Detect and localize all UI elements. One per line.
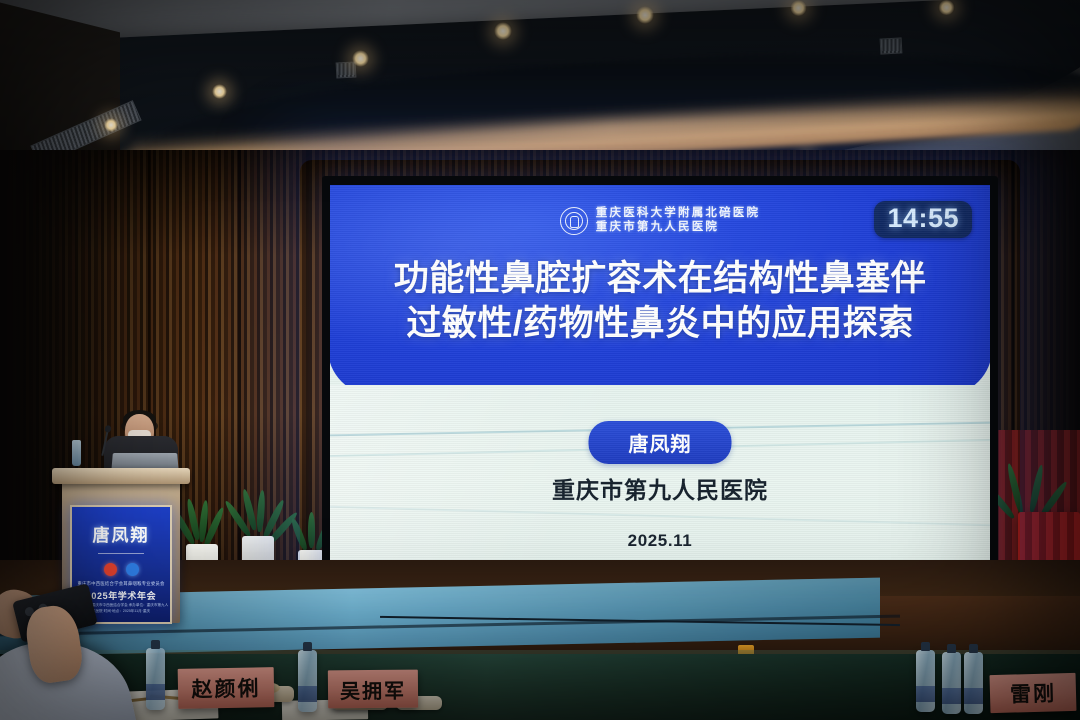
ceiling-light	[494, 22, 512, 40]
ceiling-light	[212, 84, 227, 99]
speaker-name-pill: 唐凤翔	[589, 421, 732, 464]
presentation-screen: 重庆医科大学附属北碚医院 重庆市第九人民医院 14:55 功能性鼻腔扩容术在结构…	[330, 185, 990, 593]
wall-seam	[238, 150, 241, 630]
badge-icon-blue	[126, 563, 139, 576]
slide-title: 功能性鼻腔扩容术在结构性鼻塞伴 过敏性/药物性鼻炎中的应用探索	[330, 257, 990, 347]
name-card-label: 赵颜俐	[191, 672, 261, 703]
ceiling-light	[104, 118, 118, 132]
name-card: 雷刚	[990, 673, 1077, 713]
water-bottle	[916, 650, 935, 712]
podium-top-surface	[52, 468, 190, 484]
badge-icon-red	[104, 563, 117, 576]
presentation-timer: 14:55	[874, 201, 972, 238]
speaker-affiliation: 重庆市第九人民医院	[330, 471, 990, 505]
podium-sign-divider	[98, 553, 144, 554]
ceiling-light	[790, 0, 807, 16]
name-card: 吴拥军	[328, 670, 418, 709]
water-bottle	[964, 652, 983, 714]
water-bottle	[942, 652, 961, 714]
slide-title-line2: 过敏性/药物性鼻炎中的应用探索	[330, 302, 990, 347]
slide-title-line1: 功能性鼻腔扩容术在结构性鼻塞伴	[330, 257, 990, 302]
water-bottle	[146, 648, 165, 710]
conference-photo: 重庆医科大学附属北碚医院 重庆市第九人民医院 14:55 功能性鼻腔扩容术在结构…	[0, 0, 1080, 720]
podium-sign-name: 唐凤翔	[72, 521, 170, 546]
hospital-logo-line1: 重庆医科大学附属北碚医院	[596, 207, 760, 221]
ceiling-light	[636, 6, 654, 24]
hospital-emblem-icon	[560, 207, 588, 235]
air-vent-right	[880, 37, 903, 54]
podium-sign-badges	[72, 563, 170, 576]
timer-value: 14:55	[887, 203, 959, 233]
name-card: 赵颜俐	[178, 667, 275, 709]
hospital-logo-line2: 重庆市第九人民医院	[596, 221, 760, 235]
ceiling-light	[938, 0, 955, 15]
slide-date: 2025.11	[330, 531, 990, 551]
ceiling-light	[352, 50, 369, 67]
name-card-label: 雷刚	[1010, 677, 1057, 708]
name-card-label: 吴拥军	[340, 674, 406, 704]
podium-water-bottle	[72, 440, 81, 466]
speaker-name: 唐凤翔	[629, 434, 692, 456]
water-bottle	[298, 650, 317, 712]
